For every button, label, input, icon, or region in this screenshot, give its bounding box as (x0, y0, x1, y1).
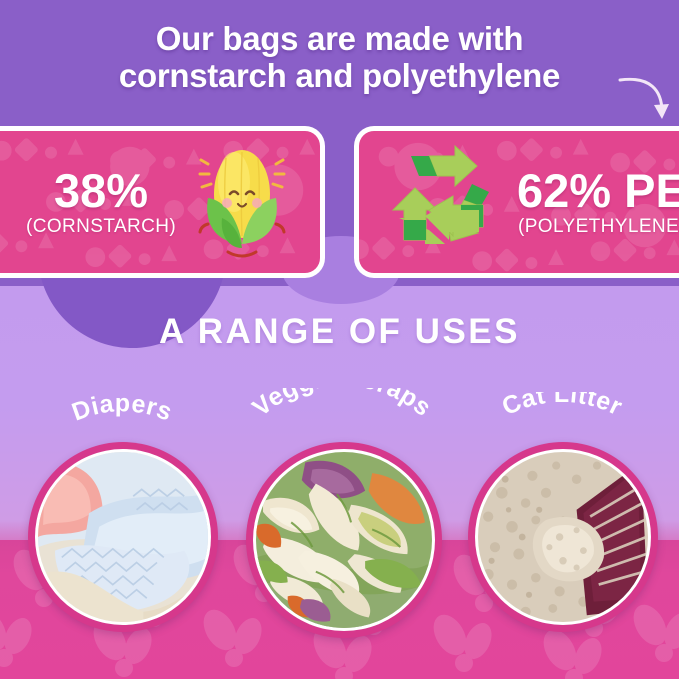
use-photo-ring (28, 442, 218, 632)
use-photo-white-ring (475, 449, 651, 625)
use-label-text: Diapers (68, 396, 176, 427)
svg-text:Cat Litter: Cat Litter (498, 392, 627, 421)
headline-line-1: Our bags are made with (156, 20, 524, 57)
card-polyethylene: 62% PE (POLYETHYLENE) (354, 126, 679, 278)
page-title: Our bags are made with cornstarch and po… (0, 20, 679, 94)
curved-arrow-down-right-icon (614, 72, 674, 128)
svg-text:Veggie Scraps: Veggie Scraps (247, 388, 437, 422)
cornstarch-percent: 38% (26, 166, 176, 216)
cat-litter-photo (478, 452, 648, 622)
use-photo-ring (246, 442, 442, 638)
veggie-scraps-photo (256, 452, 432, 628)
recycle-icon (385, 144, 501, 261)
svg-text:Diapers: Diapers (68, 396, 176, 427)
infographic-root: Our bags are made with cornstarch and po… (0, 0, 679, 679)
use-photo-white-ring (253, 449, 435, 631)
section-title-range-of-uses: A RANGE OF USES (0, 312, 679, 352)
uses-gallery: Diapers (0, 380, 679, 679)
polyethylene-percent: 62% PE (517, 166, 679, 216)
diapers-photo (38, 452, 208, 622)
cornstarch-material-label: (CORNSTARCH) (26, 216, 176, 238)
use-label-text: Cat Litter (498, 392, 627, 421)
use-photo-ring (468, 442, 658, 632)
use-label-veggie-scraps: Veggie Scraps (232, 388, 452, 450)
cornstarch-text-block: 38% (CORNSTARCH) (26, 166, 176, 238)
corn-mascot-icon (194, 136, 290, 269)
polyethylene-text-block: 62% PE (POLYETHYLENE) (517, 166, 679, 238)
card-cornstarch: 38% (CORNSTARCH) (0, 126, 325, 278)
polyethylene-material-label: (POLYETHYLENE) (517, 216, 679, 238)
use-photo-white-ring (35, 449, 211, 625)
use-label-text: Veggie Scraps (247, 388, 437, 422)
headline-line-2: cornstarch and polyethylene (0, 57, 679, 94)
material-composition-cards: 38% (CORNSTARCH) (0, 126, 679, 278)
